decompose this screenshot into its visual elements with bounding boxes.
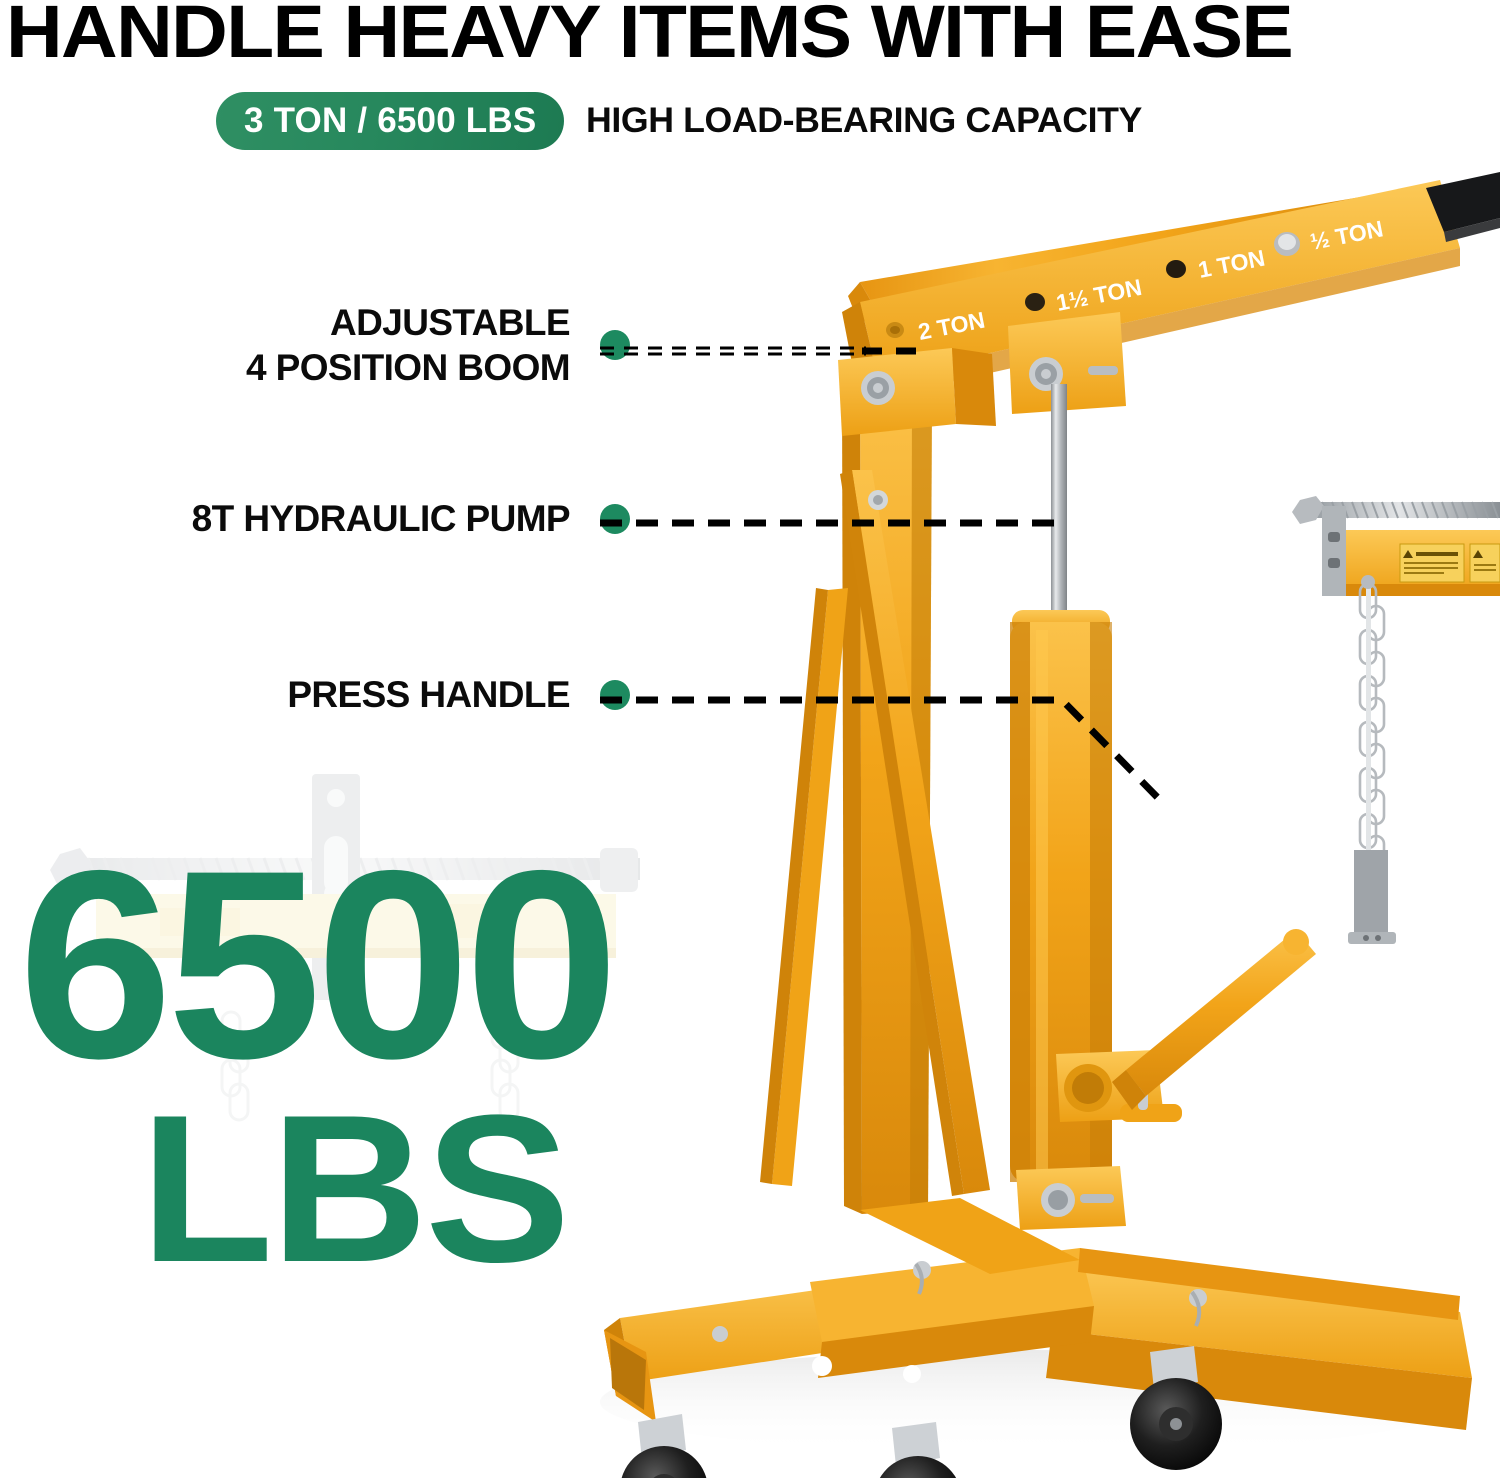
hydraulic-ram-rod	[1051, 384, 1067, 618]
callout-adjustable-boom: ADJUSTABLE 4 POSITION BOOM	[40, 300, 660, 390]
callout-dot-adjustable-boom	[600, 330, 630, 360]
callout-dot-hydraulic-pump	[600, 504, 630, 534]
header-banner: HANDLE HEAVY ITEMS WITH EASE 3 TON / 650…	[0, 0, 1500, 170]
hero-stat-block: 6500 LBS	[18, 848, 718, 1281]
callout-dot-press-handle	[600, 680, 630, 710]
cylinder-base-mount	[1016, 1166, 1126, 1230]
callout-press-handle: PRESS HANDLE	[40, 672, 660, 717]
warning-label	[1400, 544, 1500, 582]
hook-plate	[1348, 850, 1396, 944]
callout-label-hydraulic-pump: 8T HYDRAULIC PUMP	[40, 496, 570, 541]
callout-hydraulic-pump: 8T HYDRAULIC PUMP	[40, 496, 660, 541]
boom-pivot-bracket	[838, 348, 996, 436]
load-leveler-illustration	[1272, 492, 1500, 962]
hero-stat-number: 6500	[18, 848, 746, 1080]
page-title: HANDLE HEAVY ITEMS WITH EASE	[6, 0, 1500, 72]
hero-stat-unit: LBS	[140, 1096, 741, 1281]
eye-bolt	[1361, 575, 1375, 589]
lifting-chain	[1360, 584, 1384, 892]
chain-cable	[1366, 584, 1371, 884]
subheadline-row: 3 TON / 6500 LBS HIGH LOAD-BEARING CAPAC…	[216, 92, 1131, 150]
hanger-bracket	[1322, 506, 1346, 596]
callout-label-adjustable-boom: ADJUSTABLE 4 POSITION BOOM	[40, 300, 570, 390]
subheadline-text: HIGH LOAD-BEARING CAPACITY	[586, 101, 1142, 141]
capacity-badge: 3 TON / 6500 LBS	[216, 92, 564, 150]
callout-label-press-handle: PRESS HANDLE	[40, 672, 570, 717]
